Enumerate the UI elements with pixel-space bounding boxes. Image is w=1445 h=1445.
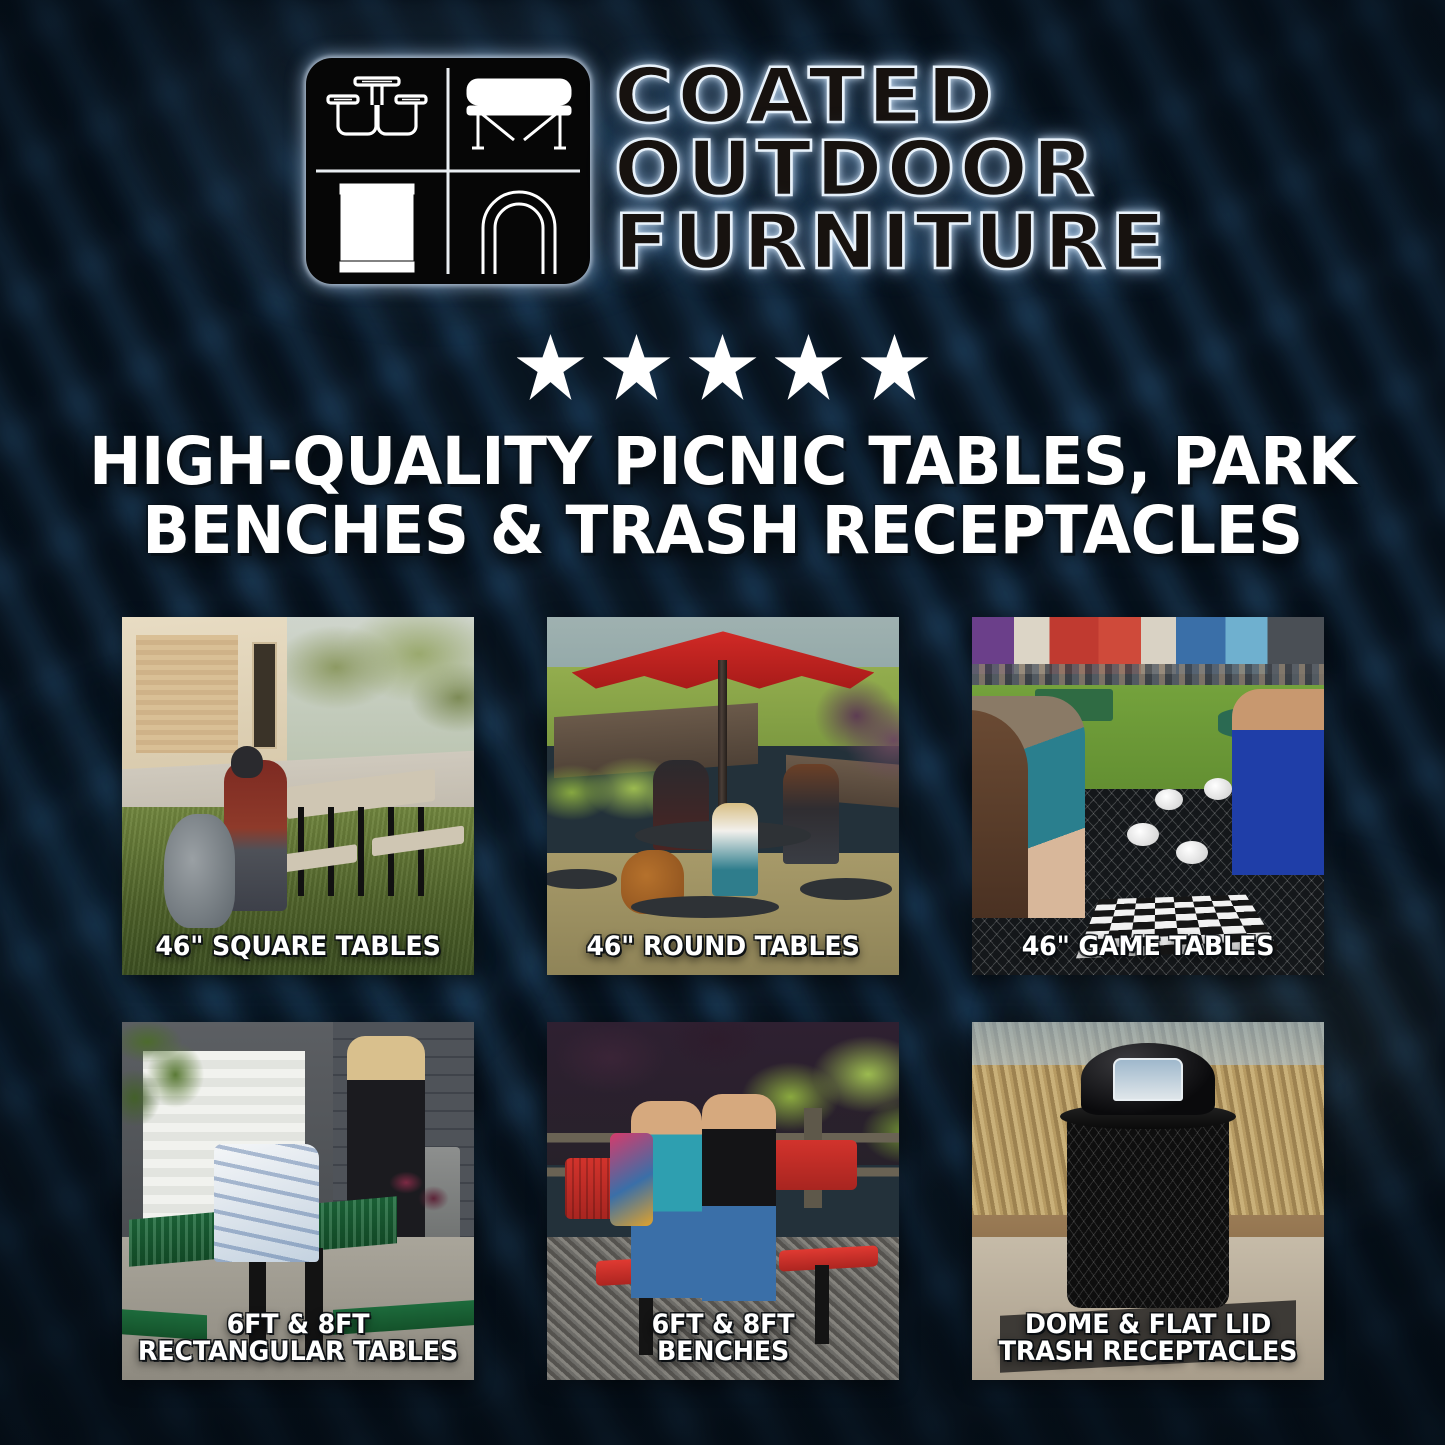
product-tile-square-tables[interactable]: 46" SQUARE TABLES [122,617,474,975]
brand-name-line1: COATED [614,60,998,133]
product-caption: DOME & FLAT LID TRASH RECEPTACLES [983,1311,1314,1366]
star-icon [861,334,929,400]
star-icon [689,334,757,400]
product-tile-game-tables[interactable]: 46" GAME TABLES [972,617,1324,975]
star-rating [0,334,1445,400]
promo-graphic: COATED OUTDOOR FURNITURE HIGH-QUALITY PI… [0,0,1445,1445]
brand-name-line3: FURNITURE [614,206,1169,279]
park-bench-icon [448,58,590,171]
product-caption: 6FT & 8FT RECTANGULAR TABLES [133,1311,464,1366]
brand-wordmark: COATED OUTDOOR FURNITURE [614,58,1138,279]
star-icon [775,334,843,400]
picnic-table-icon [306,58,448,171]
product-caption: 46" GAME TABLES [983,933,1314,961]
brand-header: COATED OUTDOOR FURNITURE [0,58,1445,284]
product-caption: 6FT & 8FT BENCHES [558,1311,889,1366]
headline-line-2: BENCHES & TRASH RECEPTACLES [36,497,1409,566]
headline: HIGH-QUALITY PICNIC TABLES, PARK BENCHES… [36,428,1409,565]
product-caption: 46" ROUND TABLES [558,933,889,961]
brand-name-line2: OUTDOOR [614,133,1098,206]
product-photo-square-tables [122,617,474,975]
logo-mark [306,58,590,284]
product-photo-round-tables [547,617,899,975]
product-tile-benches[interactable]: 6FT & 8FT BENCHES [547,1022,899,1380]
bike-rack-arch-icon [448,171,590,284]
product-tile-rectangular-tables[interactable]: 6FT & 8FT RECTANGULAR TABLES [122,1022,474,1380]
product-tile-trash-receptacles[interactable]: DOME & FLAT LID TRASH RECEPTACLES [972,1022,1324,1380]
product-photo-game-tables [972,617,1324,975]
star-icon [517,334,585,400]
product-caption: 46" SQUARE TABLES [133,933,464,961]
product-grid: 46" SQUARE TABLES 46" ROUND TABLES [122,617,1324,1380]
headline-line-1: HIGH-QUALITY PICNIC TABLES, PARK [89,423,1356,500]
trash-receptacle-icon [306,171,448,284]
product-tile-round-tables[interactable]: 46" ROUND TABLES [547,617,899,975]
star-icon [603,334,671,400]
